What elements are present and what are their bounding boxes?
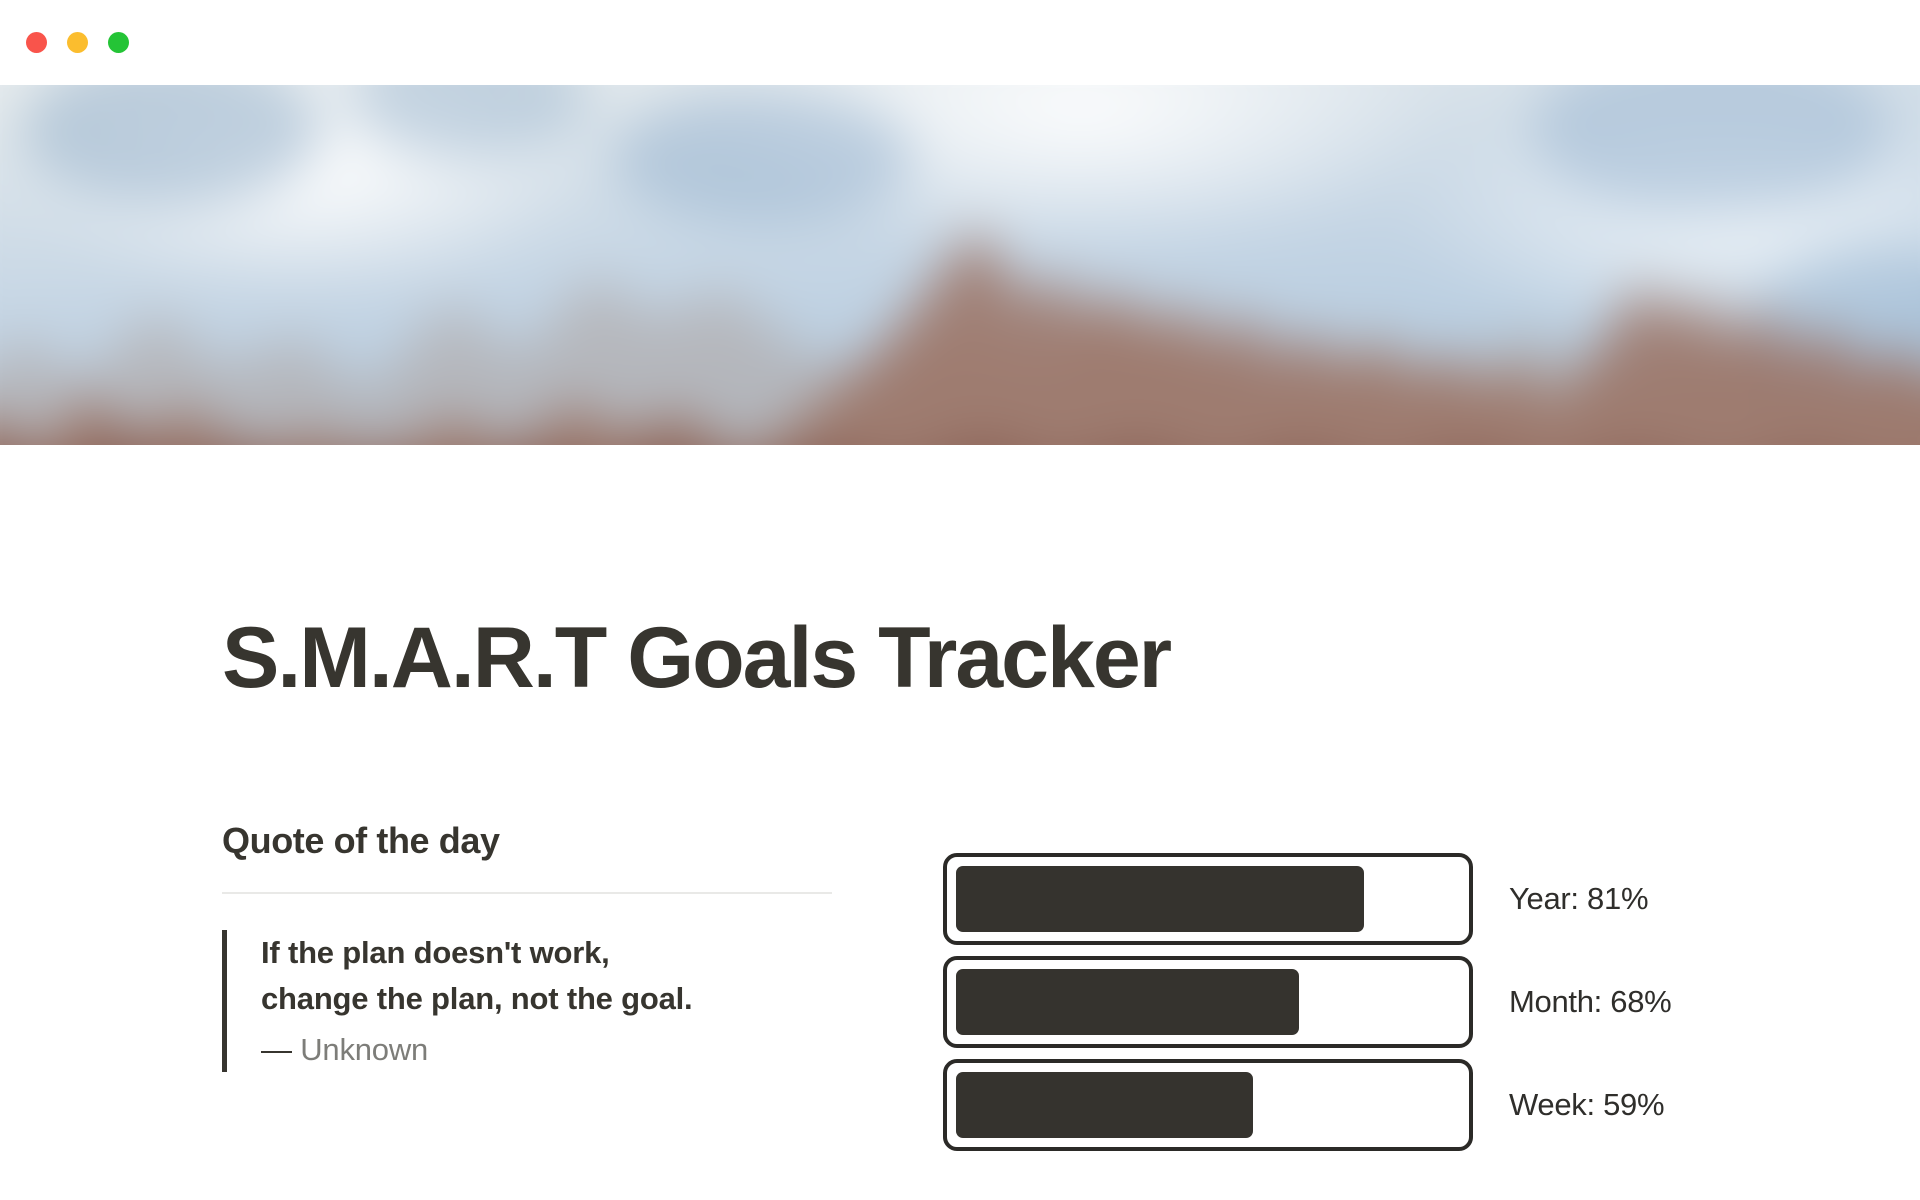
progress-row-year: Year: 81% bbox=[943, 853, 1703, 945]
progress-label-year: Year: 81% bbox=[1509, 881, 1648, 917]
cover-image[interactable] bbox=[0, 85, 1920, 445]
quote-blockquote[interactable]: If the plan doesn't work, change the pla… bbox=[222, 930, 842, 1072]
page-title[interactable]: S.M.A.R.T Goals Tracker bbox=[222, 615, 1170, 701]
progress-track-month[interactable] bbox=[943, 956, 1473, 1048]
quote-attribution-dash: — bbox=[261, 1032, 292, 1067]
progress-track-year[interactable] bbox=[943, 853, 1473, 945]
window-title-bar bbox=[0, 0, 1920, 85]
quote-attribution: — Unknown bbox=[261, 1027, 842, 1072]
progress-label-month: Month: 68% bbox=[1509, 984, 1671, 1020]
minimize-window-button[interactable] bbox=[67, 32, 88, 53]
progress-bars-section: Year: 81% Month: 68% Week: 59% bbox=[943, 853, 1703, 1151]
traffic-lights bbox=[26, 32, 129, 53]
progress-fill-year bbox=[956, 866, 1364, 932]
quote-text-line-1: If the plan doesn't work, bbox=[261, 930, 842, 975]
quote-text-line-2: change the plan, not the goal. bbox=[261, 976, 842, 1021]
close-window-button[interactable] bbox=[26, 32, 47, 53]
quote-of-the-day-section: Quote of the day If the plan doesn't wor… bbox=[222, 820, 842, 1072]
quote-attribution-author: Unknown bbox=[300, 1032, 428, 1067]
section-divider bbox=[222, 892, 832, 894]
progress-fill-month bbox=[956, 969, 1299, 1035]
page-content: S.M.A.R.T Goals Tracker Quote of the day… bbox=[0, 445, 1920, 1200]
maximize-window-button[interactable] bbox=[108, 32, 129, 53]
progress-label-week: Week: 59% bbox=[1509, 1087, 1664, 1123]
cover-image-canvas bbox=[0, 85, 1920, 445]
progress-track-week[interactable] bbox=[943, 1059, 1473, 1151]
quote-section-heading[interactable]: Quote of the day bbox=[222, 820, 842, 861]
progress-row-week: Week: 59% bbox=[943, 1059, 1703, 1151]
progress-row-month: Month: 68% bbox=[943, 956, 1703, 1048]
progress-fill-week bbox=[956, 1072, 1253, 1138]
mountain-ridge-front bbox=[0, 342, 1920, 445]
